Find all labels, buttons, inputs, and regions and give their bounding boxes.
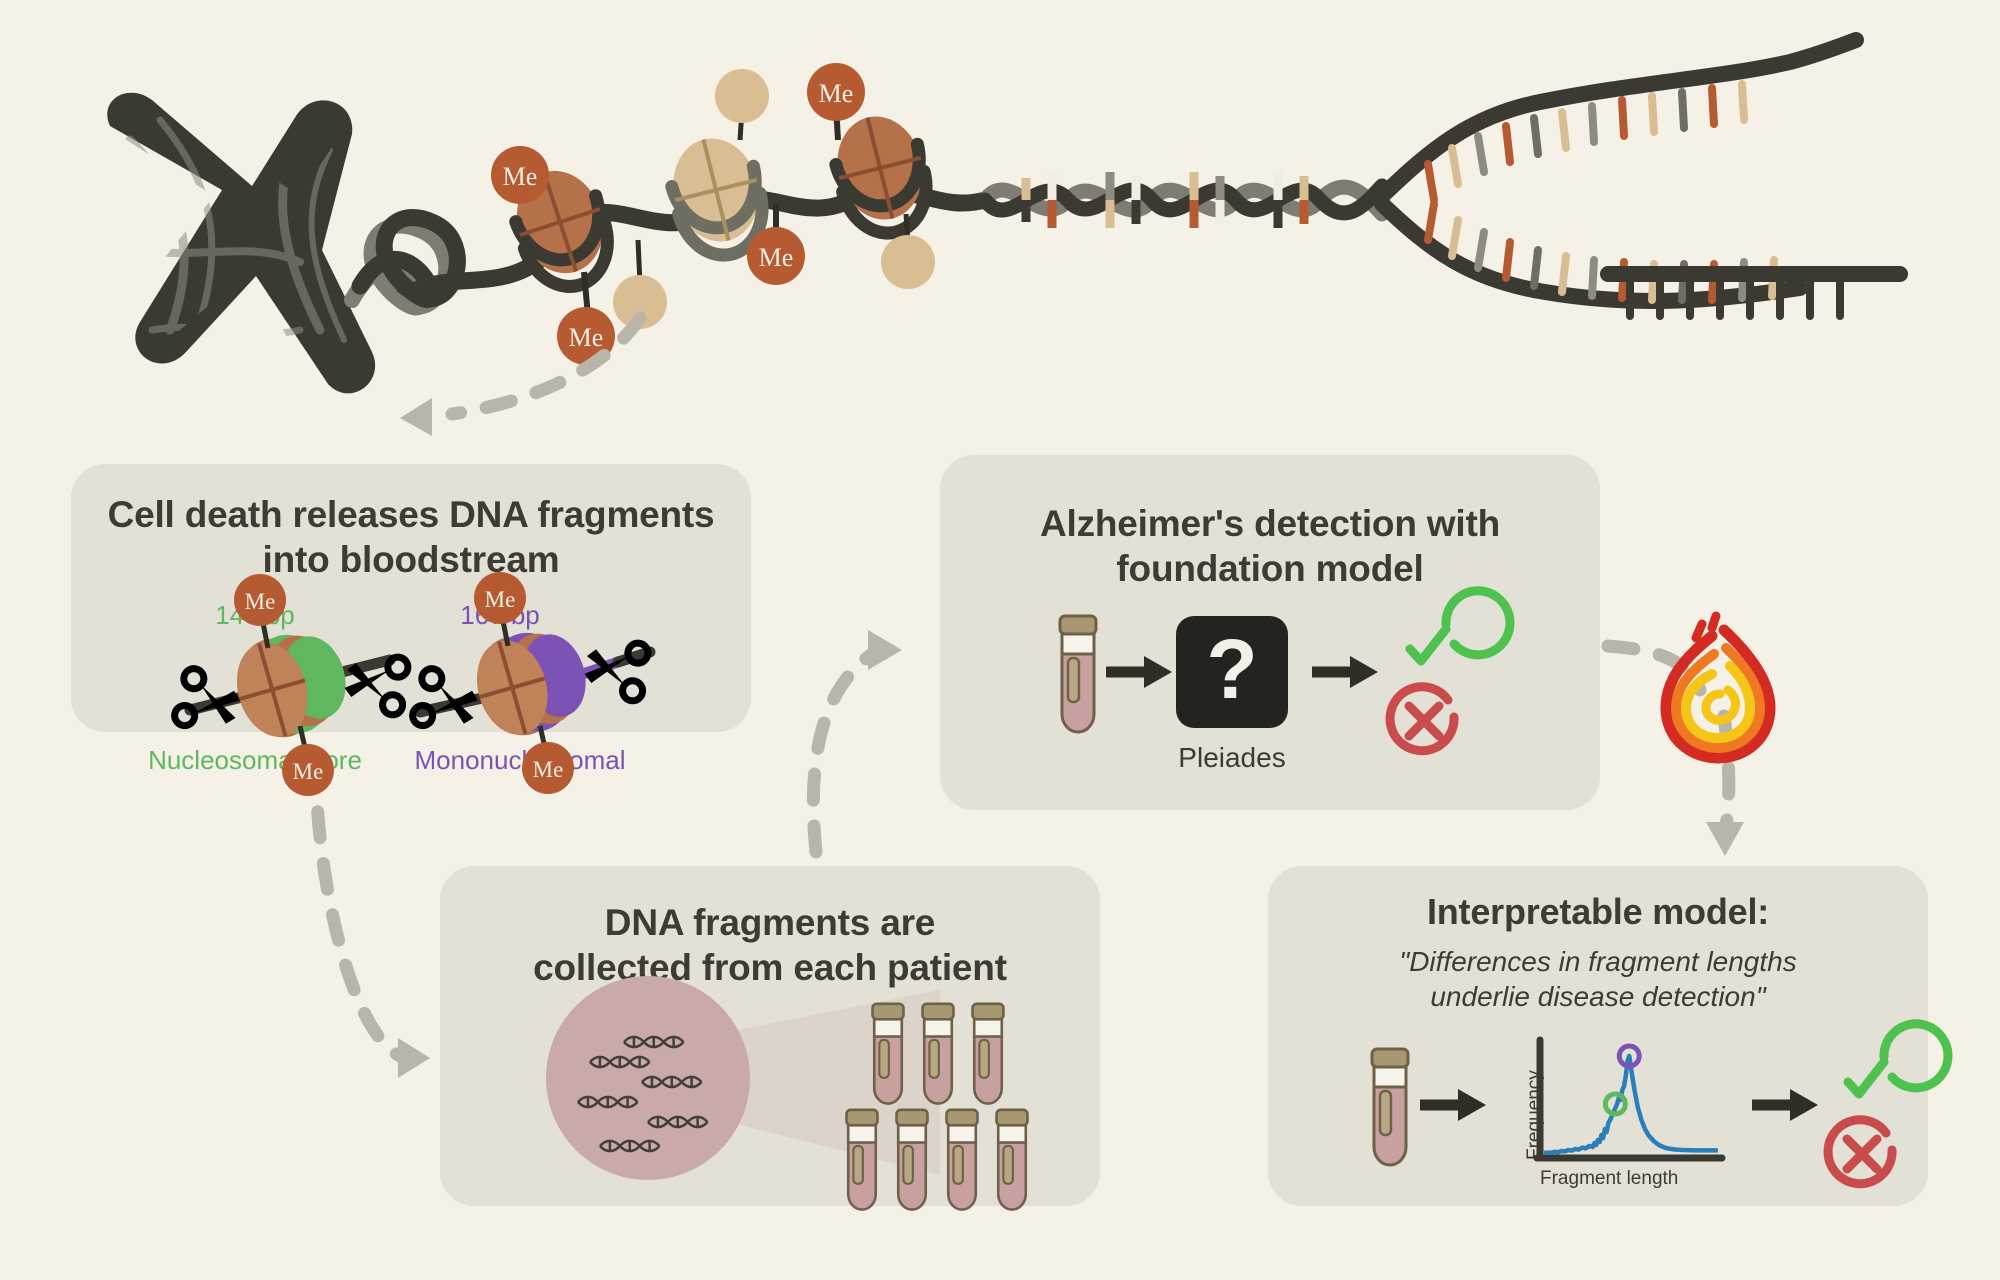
blood-tube-icon <box>997 1110 1028 1210</box>
infographic-canvas: Me Me Me Me <box>0 0 2000 1280</box>
blood-tube-icon <box>1060 616 1096 732</box>
result-check-icon <box>1848 1024 1948 1094</box>
result-cross-icon <box>1828 1120 1892 1184</box>
dna-fragment-icon <box>600 1141 660 1151</box>
blood-tube-icon <box>947 1110 978 1210</box>
result-cross-icon <box>1390 687 1454 751</box>
blood-tube-icon <box>897 1110 928 1210</box>
blood-tube-icon <box>973 1004 1004 1104</box>
result-check-icon <box>1410 591 1510 661</box>
collection-graphics <box>546 976 1027 1210</box>
dna-fragment-icon <box>624 1037 684 1047</box>
blood-tube-icon <box>873 1004 904 1104</box>
interpretable-flow <box>1372 1024 1948 1184</box>
panel-graphics <box>0 0 2000 1280</box>
dna-fragment-icon <box>590 1057 650 1067</box>
flow-arrow-icon <box>1312 656 1378 688</box>
flow-arrow-icon <box>1420 1089 1486 1121</box>
flow-arrow-icon <box>1106 656 1172 688</box>
dna-fragment-icon <box>648 1117 708 1127</box>
blood-tube-icon <box>847 1110 878 1210</box>
blood-tube-icon <box>1372 1049 1408 1165</box>
blood-tube-icon <box>923 1004 954 1104</box>
dna-fragment-icon <box>578 1097 638 1107</box>
alzheimers-flow <box>1060 591 1510 751</box>
dna-fragment-icon <box>642 1077 702 1087</box>
fragment-length-chart <box>1537 1040 1722 1158</box>
flow-arrow-icon <box>1752 1089 1818 1121</box>
